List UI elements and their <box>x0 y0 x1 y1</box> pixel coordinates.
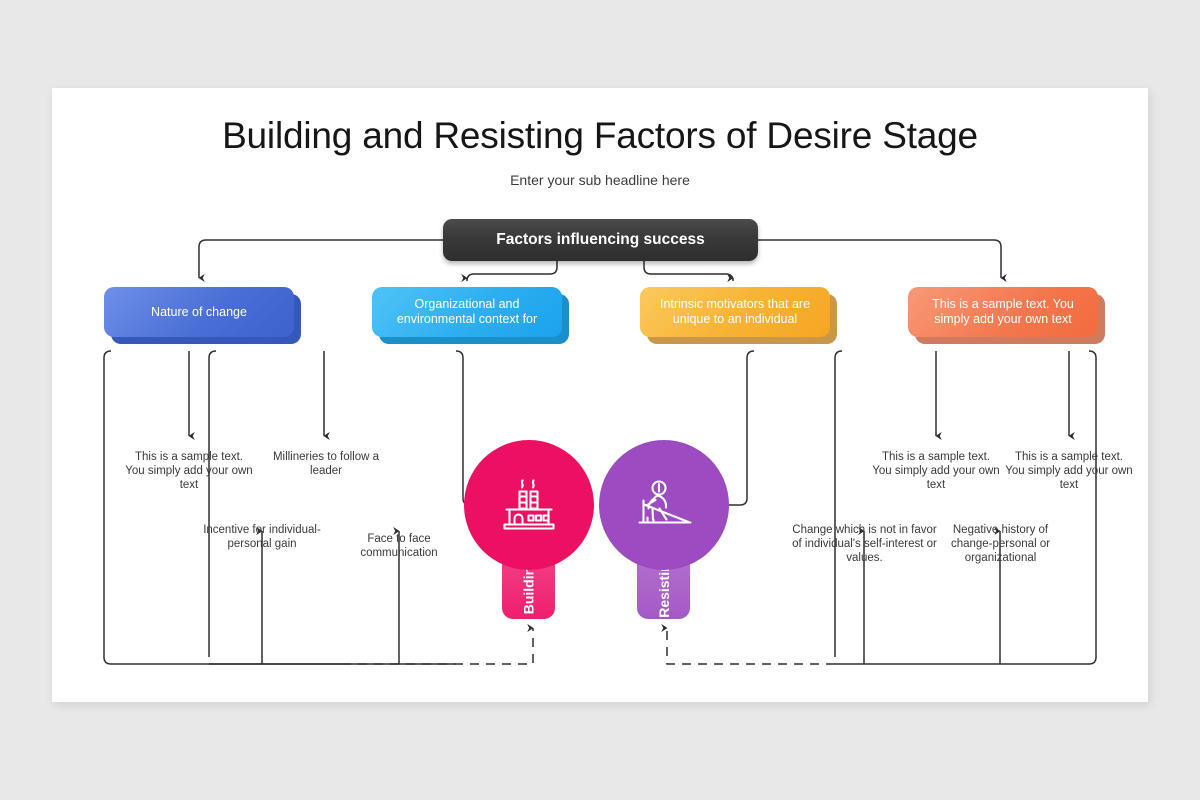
wire-dashed-to-resisting <box>667 628 835 664</box>
leaf-label-upper-0: This is a sample text. You simply add yo… <box>125 450 253 492</box>
wire-dashed-to-building <box>342 628 533 664</box>
root-node[interactable]: Factors influencing success <box>443 219 758 261</box>
wire-root-to-cat-0 <box>199 240 443 278</box>
leaf-label-upper-3: This is a sample text. You simply add yo… <box>1005 450 1133 492</box>
leaf-label-upper-1: Millineries to follow a leader <box>262 450 390 478</box>
category-box-nature-of-change[interactable]: Nature of change <box>104 287 294 337</box>
slide-canvas: Building and Resisting Factors of Desire… <box>0 0 1200 800</box>
circle-resisting-factors <box>599 440 729 570</box>
category-box-face: Nature of change <box>104 287 294 337</box>
factory-icon <box>498 478 560 532</box>
category-box-intrinsic-motivators[interactable]: Intrinsic motivators that are unique to … <box>640 287 830 337</box>
leaf-label-lower-2: Change which is not in favor of individu… <box>792 523 937 565</box>
leaf-label-lower-3: Negative history of change-personal or o… <box>934 523 1067 565</box>
leaf-label-lower-1: Face to face communication <box>335 532 463 560</box>
slide-sheet: Building and Resisting Factors of Desire… <box>52 88 1148 702</box>
category-box-organizational-context[interactable]: Organizational and environmental context… <box>372 287 562 337</box>
category-box-face: Intrinsic motivators that are unique to … <box>640 287 830 337</box>
category-label: Organizational and environmental context… <box>384 297 550 327</box>
page-title: Building and Resisting Factors of Desire… <box>52 115 1148 157</box>
root-node-label: Factors influencing success <box>496 231 704 249</box>
leaf-label-upper-2: This is a sample text. You simply add yo… <box>872 450 1000 492</box>
wire-left-outer-rail <box>104 351 342 664</box>
wire-right-outer-rail <box>835 351 1096 664</box>
wire-root-to-cat-2 <box>644 261 733 281</box>
category-label: Nature of change <box>151 305 247 320</box>
category-label: Intrinsic motivators that are unique to … <box>652 297 818 327</box>
person-pushing-slope-icon <box>633 478 695 532</box>
wire-root-to-cat-3 <box>758 240 1001 278</box>
category-box-sample-text[interactable]: This is a sample text. You simply add yo… <box>908 287 1098 337</box>
leaf-label-lower-0: Incentive for individual- personal gain <box>198 523 326 551</box>
circle-building-factors <box>464 440 594 570</box>
category-label: This is a sample text. You simply add yo… <box>920 297 1086 327</box>
wire-left-inner-rail-a <box>209 351 216 657</box>
page-subtitle: Enter your sub headline here <box>52 172 1148 188</box>
wire-right-inner-rail-a <box>835 351 842 657</box>
category-box-face: Organizational and environmental context… <box>372 287 562 337</box>
category-box-face: This is a sample text. You simply add yo… <box>908 287 1098 337</box>
wire-root-to-cat-1 <box>467 261 557 281</box>
